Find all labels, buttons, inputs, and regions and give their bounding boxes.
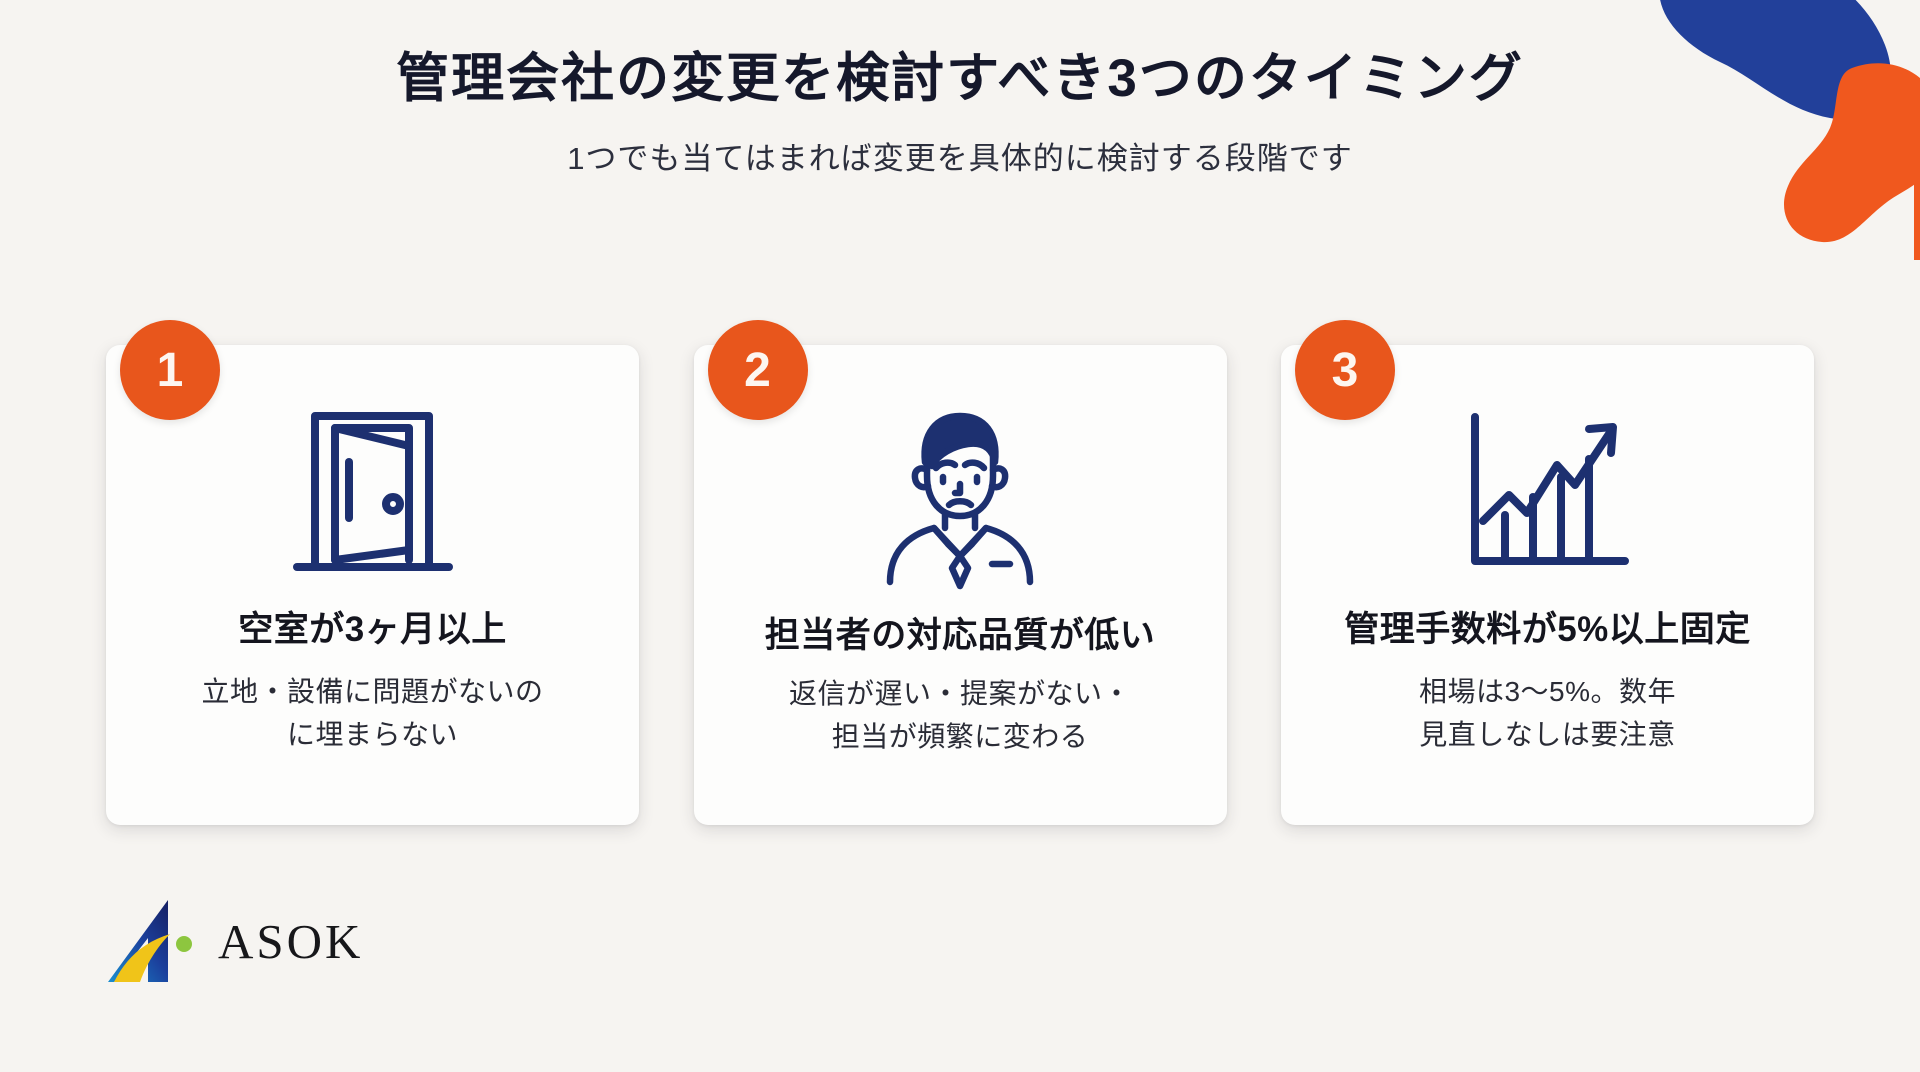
slide-header: 管理会社の変更を検討すべき3つのタイミング 1つでも当てはまれば変更を具体的に検… bbox=[0, 48, 1920, 178]
card-3-description: 相場は3〜5%。数年 見直しなしは要注意 bbox=[1419, 670, 1676, 757]
cards-row: 1 空室が3ヶ月以上 立地・設備に問題がないの に埋まらない bbox=[106, 345, 1814, 825]
asok-logo: ASOK bbox=[108, 898, 363, 984]
card-1-number-badge: 1 bbox=[120, 320, 220, 420]
card-2-desc-line-2: 担当が頻繁に変わる bbox=[789, 715, 1131, 758]
card-2-number-badge: 2 bbox=[708, 320, 808, 420]
card-2-title: 担当者の対応品質が低い bbox=[765, 614, 1156, 658]
card-2-description: 返信が遅い・提案がない・ 担当が頻繁に変わる bbox=[789, 672, 1131, 759]
page-subtitle: 1つでも当てはまれば変更を具体的に検討する段階です bbox=[0, 133, 1920, 178]
card-1-desc-line-2: に埋まらない bbox=[201, 713, 543, 756]
card-3-title: 管理手数料が5%以上固定 bbox=[1344, 608, 1751, 652]
card-3-desc-line-2: 見直しなしは要注意 bbox=[1419, 713, 1676, 756]
card-1-title: 空室が3ヶ月以上 bbox=[238, 608, 506, 652]
asok-logo-mark bbox=[108, 898, 204, 984]
page-title: 管理会社の変更を検討すべき3つのタイミング bbox=[0, 48, 1920, 111]
card-2-desc-line-1: 返信が遅い・提案がない・ bbox=[789, 672, 1131, 715]
card-2: 2 bbox=[694, 345, 1227, 825]
rising-bar-chart-arrow-icon-svg bbox=[1457, 403, 1639, 583]
card-1-desc-line-1: 立地・設備に問題がないの bbox=[201, 670, 543, 713]
asok-logo-text: ASOK bbox=[218, 917, 363, 966]
worried-businessman-icon-svg bbox=[872, 404, 1048, 594]
open-door-icon bbox=[287, 385, 459, 600]
card-3-desc-line-1: 相場は3〜5%。数年 bbox=[1419, 670, 1676, 713]
card-3: 3 bbox=[1281, 345, 1814, 825]
worried-businessman-icon bbox=[872, 391, 1048, 606]
slide-canvas: 管理会社の変更を検討すべき3つのタイミング 1つでも当てはまれば変更を具体的に検… bbox=[0, 0, 1920, 1072]
asok-green-dot bbox=[176, 936, 192, 952]
card-1-description: 立地・設備に問題がないの に埋まらない bbox=[201, 670, 543, 757]
card-1: 1 空室が3ヶ月以上 立地・設備に問題がないの に埋まらない bbox=[106, 345, 639, 825]
rising-bar-chart-arrow-icon bbox=[1457, 385, 1639, 600]
open-door-icon-svg bbox=[287, 400, 459, 585]
card-3-number-badge: 3 bbox=[1295, 320, 1395, 420]
blob-orange-shape-2 bbox=[1906, 174, 1920, 260]
